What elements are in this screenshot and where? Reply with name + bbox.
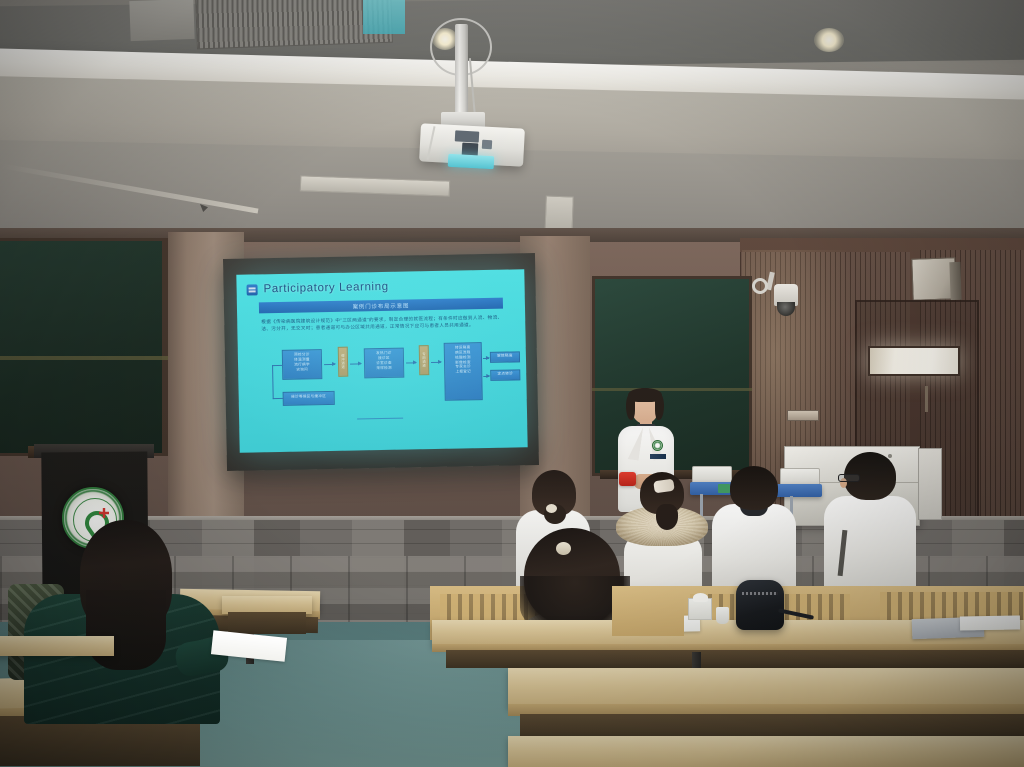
blackboard-left [0,238,168,456]
student-front-left-long-hair [86,590,166,670]
backpack-zipper [742,592,778,595]
projector-lens [448,154,495,169]
student-front-left [24,520,220,700]
flow-arrow-6 [483,376,489,377]
flow-box-2: 发热门诊 接诊区 诊室诊查 采样检测 [364,348,405,379]
black-backpack [736,580,784,630]
presenter-hair-right [655,394,664,420]
wall-speaker-side [949,262,961,300]
projector-mount-pole [455,24,468,122]
slide-paragraph: 根据《传染病医院建筑设计规范》中"三区两通道"的要求，制定合理的就医流程；有条件… [261,314,505,333]
student-fur-ponytail [656,504,678,530]
projection-screen: Participatory Learning 案例门诊布局示意图 根据《传染病医… [236,269,527,452]
flow-return-top [272,365,283,366]
presentation-icon [246,284,257,295]
slide-title-row: Participatory Learning [246,276,506,299]
blackboard-left-rail [0,356,168,360]
student-sweater-hairclip [556,542,571,555]
flow-arrow-3 [406,362,416,363]
flow-gate-1: 缓冲通道 [338,347,349,377]
presenter-hair-left [626,394,635,420]
slide-title: Participatory Learning [263,281,388,295]
flow-box-1-l4: 史询问 [296,367,308,372]
desk-row-front-right-top [508,668,1024,708]
classroom-photo: 认真学习 科学防控 Participatory Learning 案例门诊布局示… [0,0,1024,767]
flow-return-vertical [272,365,274,399]
tissue-puff [693,593,708,602]
flow-arrow-4 [431,362,441,363]
student-bun-hairclip [546,504,557,513]
flow-arrow-2 [350,363,361,364]
flow-box-5: 解除隔离 [490,351,520,363]
flow-box-6: 定点转诊 [490,369,520,381]
projector-button [482,140,492,150]
student-center-hair [730,466,778,510]
desk-left-back-top [0,636,114,656]
bench-back-row-2 [612,586,684,636]
paper-cup [716,607,729,624]
desk-row-mid-front [446,650,1024,668]
cable-ring [752,278,768,294]
flow-box-6-l1: 定点转诊 [497,371,513,376]
desk-shelf-front-right [508,736,1024,767]
flow-box-1: 预检分诊 体温测量 流行病学 史询问 [282,349,323,380]
door-handle[interactable] [925,386,928,412]
student-glasses-coat [824,496,916,592]
flow-gate-2: 专用通道 [419,345,430,375]
student-glasses [824,452,916,588]
presenter-badge [652,440,663,451]
desk-right-slot-opening [228,612,306,634]
flow-return-horizontal [273,398,284,399]
presenter-name-card [650,454,666,459]
projector-port-panel [455,130,480,142]
student-center-back [712,466,796,588]
flow-gate-1-label: 缓冲通道 [340,354,345,369]
side-machine [918,448,942,520]
flow-gate-2-label: 专用通道 [421,353,426,368]
hvac-side-panel [363,0,405,34]
slide-banner: 案例门诊布局示意图 [259,298,503,314]
eyeglasses [838,474,860,482]
flow-arrow-1 [324,364,335,365]
flow-box-5-l1: 解除隔离 [497,353,513,358]
slide-footer-rule [357,418,403,420]
flow-box-3-l6: 上报登记 [455,370,471,375]
wall-switch-plate [787,410,819,421]
door-light-window [868,346,960,376]
ceiling-light-right [814,28,844,52]
hvac-louver [129,0,194,41]
flow-box-2-l4: 采样检测 [376,365,392,370]
slide-banner-text: 案例门诊布局示意图 [353,301,410,310]
flow-box-4: 候诊等候区与缓冲区 [283,391,335,406]
papers-on-desk-right [960,615,1020,630]
flow-box-4-l1: 候诊等候区与缓冲区 [291,394,326,400]
flow-box-3: 转运隔离 病区流程 核酸检测 影像检查 专家会诊 上报登记 [444,342,483,401]
flow-arrow-5 [483,358,489,359]
